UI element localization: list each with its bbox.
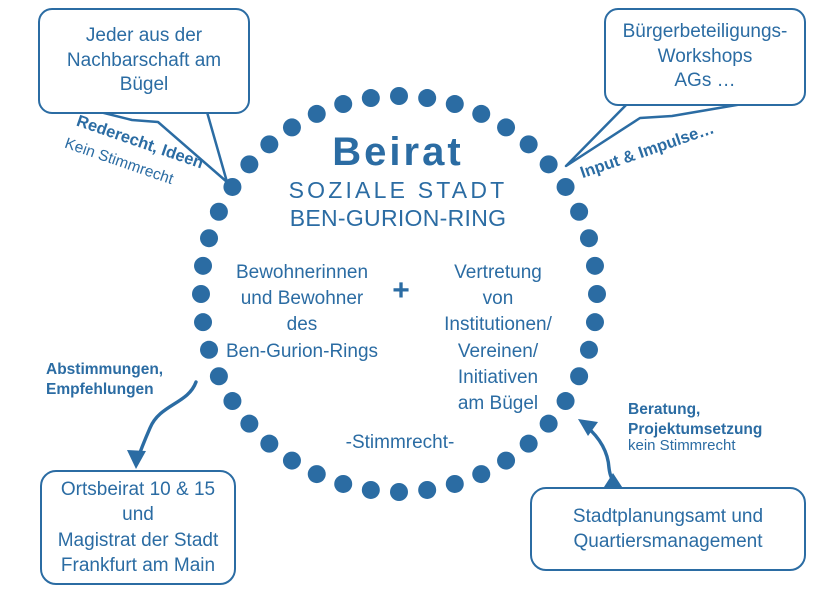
page-subtitle-line2: BEN-GURION-RING: [248, 204, 548, 232]
bubble-neighbourhood[interactable]: Jeder aus der Nachbarschaft am Bügel: [38, 8, 250, 114]
ring-dot: [418, 89, 436, 107]
ring-dot: [210, 203, 228, 221]
ring-dot: [472, 105, 490, 123]
ring-dot: [283, 452, 301, 470]
ring-dot: [362, 481, 380, 499]
arrow-beratung: [586, 426, 616, 484]
ring-dot: [334, 475, 352, 493]
ring-dot: [194, 257, 212, 275]
ring-dot: [308, 465, 326, 483]
ring-dot: [210, 367, 228, 385]
connector-label-abstimmungen: Abstimmungen, Empfehlungen: [46, 360, 196, 401]
ring-dot: [390, 87, 408, 105]
member-group-institutions: Vertretung von Institutionen/ Vereinen/ …: [418, 260, 578, 417]
ring-dot: [334, 95, 352, 113]
connector-label-beratung-kein-stimmrecht: kein Stimmrecht: [628, 437, 798, 455]
ring-dot: [586, 257, 604, 275]
plus-icon: +: [385, 276, 417, 306]
ring-dot: [223, 392, 241, 410]
ring-dot: [520, 435, 538, 453]
ring-dot: [223, 178, 241, 196]
ring-dot: [194, 313, 212, 331]
ring-dot: [472, 465, 490, 483]
page-subtitle-line1: SOZIALE STADT: [248, 176, 548, 204]
ring-dot: [446, 475, 464, 493]
bubble-workshops[interactable]: Bürgerbeteiligungs- Workshops AGs …: [604, 8, 806, 106]
diagram-canvas: Jeder aus der Nachbarschaft am Bügel Red…: [0, 0, 820, 600]
ring-dot: [260, 435, 278, 453]
box-ortsbeirat-magistrat[interactable]: Ortsbeirat 10 & 15 und Magistrat der Sta…: [40, 470, 236, 585]
arrowhead-beratung-up: [578, 419, 598, 436]
bubble-tail-workshops: [566, 101, 760, 166]
ring-dot: [570, 203, 588, 221]
ring-dot: [240, 415, 258, 433]
ring-dot: [580, 229, 598, 247]
ring-dot: [588, 285, 606, 303]
ring-dot: [580, 341, 598, 359]
ring-dot: [540, 415, 558, 433]
box-stadtplanungsamt-quartiersmanagement[interactable]: Stadtplanungsamt und Quartiersmanagement: [530, 487, 806, 571]
ring-dot: [390, 483, 408, 501]
page-title: Beirat: [248, 128, 548, 177]
ring-dot: [200, 229, 218, 247]
ring-dot: [308, 105, 326, 123]
arrowhead-abstimmungen: [127, 450, 146, 469]
connector-label-input-impulse: Input & Impulse…: [578, 119, 717, 183]
connector-label-beratung: Beratung, Projektumsetzung: [628, 400, 798, 441]
ring-dot: [362, 89, 380, 107]
ring-dot: [557, 178, 575, 196]
ring-dot: [418, 481, 436, 499]
ring-dot: [192, 285, 210, 303]
voting-rights-note: -Stimmrecht-: [318, 431, 482, 454]
member-group-residents: Bewohnerinnen und Bewohner des Ben-Gurio…: [212, 260, 392, 365]
ring-dot: [446, 95, 464, 113]
ring-dot: [497, 452, 515, 470]
ring-dot: [586, 313, 604, 331]
